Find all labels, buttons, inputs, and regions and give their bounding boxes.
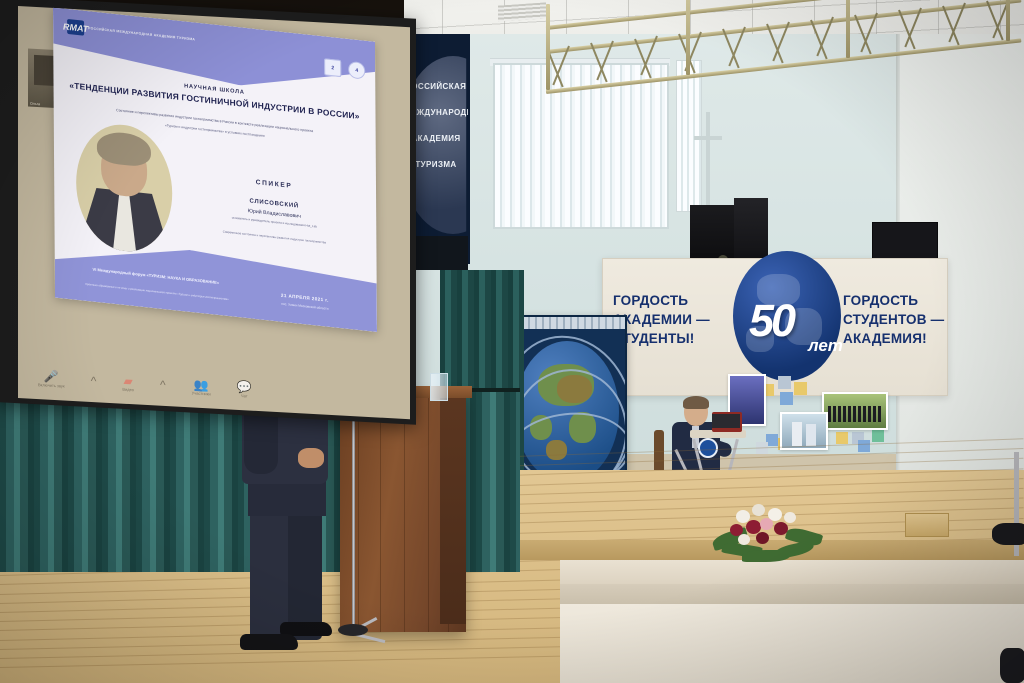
speaker-portrait <box>76 120 173 256</box>
podium-side-panel <box>440 396 466 624</box>
truss-post <box>1006 0 1010 41</box>
hands <box>298 448 324 468</box>
foreground-object <box>1000 648 1024 683</box>
lower-floor <box>560 604 1024 683</box>
board-top-trim <box>509 317 625 329</box>
banner-left-text: ГОРДОСТЬ АКАДЕМИИ — СТУДЕНТЫ! <box>613 291 733 348</box>
toolbar-label: Видео <box>122 386 134 392</box>
partner-logo-icon: 2 <box>324 58 341 77</box>
toolbar-label: Чат <box>241 393 248 398</box>
chat-icon[interactable]: 💬 Чат <box>237 380 252 398</box>
participants-icon[interactable]: 👥 Участники <box>192 378 211 396</box>
laptop-screen <box>712 414 740 428</box>
water-glass <box>430 373 448 401</box>
truss-post <box>686 0 690 75</box>
lighting-truss <box>546 4 1024 114</box>
anniversary-number: 50 <box>749 295 793 347</box>
stage-riser-block <box>905 513 949 537</box>
shoe <box>240 634 298 650</box>
collage-photo <box>822 392 888 430</box>
zoom-toolbar[interactable]: 🎤 Включить звук ^ ▰ Видео ^ 👥 Участники … <box>38 365 298 405</box>
projection-screen: Ольга Zoom Room Арсений Р.М. Сергей Грун… <box>18 6 410 419</box>
speaker-label: СПИКЕР <box>208 174 340 195</box>
anniversary-word: лет <box>808 336 843 356</box>
truss-chord <box>546 38 1022 94</box>
truss-post <box>546 4 550 90</box>
ceiling-vent-icon <box>498 2 546 21</box>
conference-hall-photo: РОССИЙСКАЯ МЕЖДУНАРОДНАЯ АКАДЕМИЯ ТУРИЗМ… <box>0 0 1024 683</box>
banner-right-text: ГОРДОСТЬ СТУДЕНТОВ — АКАДЕМИЯ! <box>843 291 949 348</box>
stage-step <box>560 584 1024 604</box>
truss-post <box>846 0 850 58</box>
camera-off-icon[interactable]: ▰ Видео <box>122 374 134 392</box>
partner-logo-icon: 4 <box>348 61 365 80</box>
toolbar-label: Включить звук <box>38 382 65 388</box>
wall-pipe <box>706 112 710 212</box>
presentation-slide: RMAT РОССИЙСКАЯ МЕЖДУНАРОДНАЯ АКАДЕМИЯ Т… <box>53 7 377 332</box>
wall-pipe <box>694 136 722 140</box>
logo-mark-icon: RMAT <box>67 19 84 36</box>
stage-step <box>560 560 1024 584</box>
video-tile-label: Ольга <box>30 102 40 107</box>
partner-logo-row: 1 2 3 4 <box>324 58 365 79</box>
anniversary-banner: ГОРДОСТЬ АКАДЕМИИ — СТУДЕНТЫ! 50 лет ГОР… <box>602 258 948 396</box>
chevron-up-icon[interactable]: ^ <box>91 375 97 387</box>
chevron-up-icon[interactable]: ^ <box>160 379 166 391</box>
foreground-shoe <box>992 523 1024 545</box>
flower-arrangement <box>712 500 822 562</box>
collage-photo <box>780 412 828 450</box>
toolbar-label: Участники <box>192 390 211 396</box>
microphone-icon[interactable]: 🎤 Включить звук <box>38 370 65 388</box>
